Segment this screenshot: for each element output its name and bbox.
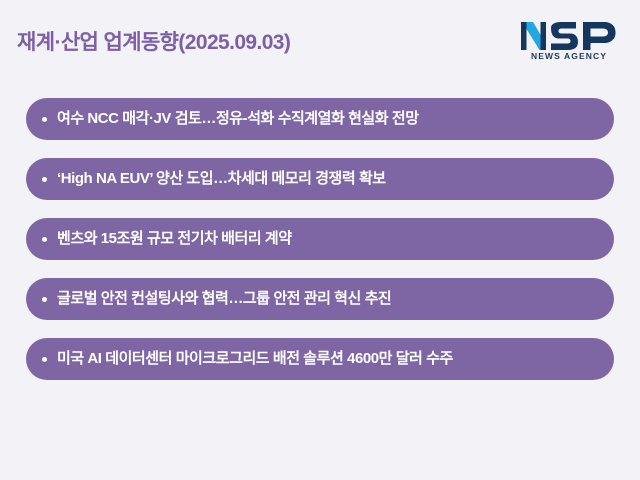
list-item-label: 글로벌 안전 컨설팅사와 협력…그룹 안전 관리 혁신 추진: [57, 290, 596, 308]
nsp-wordmark-icon: [520, 20, 618, 52]
list-item[interactable]: 미국 AI 데이터센터 마이크로그리드 배전 솔루션 4600만 달러 수주: [26, 338, 614, 380]
list-item[interactable]: ‘High NA EUV’ 양산 도입…차세대 메모리 경쟁력 확보: [26, 158, 614, 200]
list-item-label: 여수 NCC 매각·JV 검토…정유-석화 수직계열화 현실화 전망: [57, 110, 596, 128]
bullet-dot-icon: [42, 237, 47, 242]
list-item[interactable]: 글로벌 안전 컨설팅사와 협력…그룹 안전 관리 혁신 추진: [26, 278, 614, 320]
page-title: 재계·산업 업계동향(2025.09.03): [17, 30, 290, 55]
bullet-dot-icon: [42, 357, 47, 362]
news-summary-slide: 재계·산업 업계동향(2025.09.03) NEWS AGENCY 여수 NC…: [0, 0, 640, 480]
list-item-label: 벤츠와 15조원 규모 전기차 배터리 계약: [57, 230, 596, 248]
list-item[interactable]: 벤츠와 15조원 규모 전기차 배터리 계약: [26, 218, 614, 260]
headline-list: 여수 NCC 매각·JV 검토…정유-석화 수직계열화 현실화 전망 ‘High…: [26, 98, 614, 380]
bullet-dot-icon: [42, 297, 47, 302]
nsp-logo: NEWS AGENCY: [520, 20, 618, 68]
list-item-label: ‘High NA EUV’ 양산 도입…차세대 메모리 경쟁력 확보: [57, 170, 596, 188]
bullet-dot-icon: [42, 177, 47, 182]
list-item-label: 미국 AI 데이터센터 마이크로그리드 배전 솔루션 4600만 달러 수주: [57, 350, 596, 368]
slide-header: 재계·산업 업계동향(2025.09.03) NEWS AGENCY: [0, 0, 640, 90]
bullet-dot-icon: [42, 117, 47, 122]
logo-subtitle: NEWS AGENCY: [520, 52, 618, 61]
list-item[interactable]: 여수 NCC 매각·JV 검토…정유-석화 수직계열화 현실화 전망: [26, 98, 614, 140]
